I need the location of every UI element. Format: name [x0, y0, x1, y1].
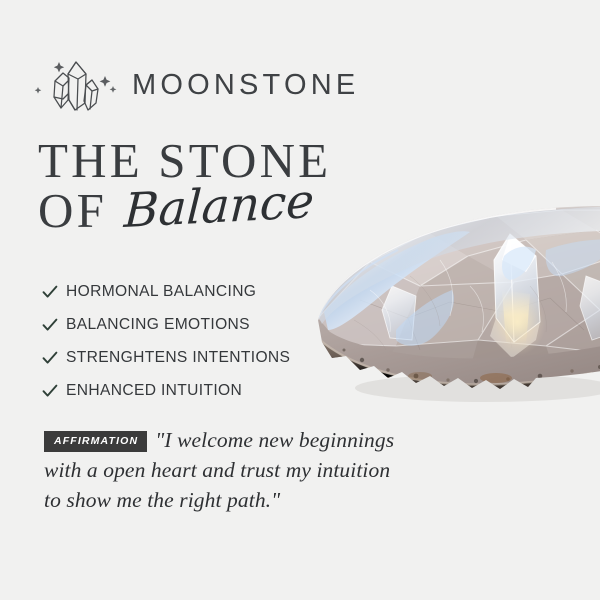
list-item-label: BALANCING EMOTIONS: [66, 316, 250, 334]
moonstone-infographic-card: MOONSTONE THE STONE OF Balance HORMONAL …: [0, 0, 600, 600]
list-item-label: ENHANCED INTUITION: [66, 382, 242, 400]
affirmation-text: AFFIRMATION"I welcome new beginnings wit…: [44, 425, 464, 515]
affirmation-line-1: "I welcome new beginnings: [155, 428, 394, 452]
check-icon: [42, 351, 66, 365]
list-item-label: HORMONAL BALANCING: [66, 283, 256, 301]
list-item: ENHANCED INTUITION: [42, 374, 362, 407]
list-item: STRENGHTENS INTENTIONS: [42, 341, 362, 374]
headline-script-word: Balance: [123, 180, 315, 234]
check-icon: [42, 384, 66, 398]
brand-lockup: MOONSTONE: [30, 52, 359, 118]
list-item: HORMONAL BALANCING: [42, 275, 362, 308]
affirmation-block: AFFIRMATION"I welcome new beginnings wit…: [44, 425, 464, 515]
list-item-label: STRENGHTENS INTENTIONS: [66, 349, 290, 367]
page-title: THE STONE OF Balance: [38, 136, 508, 236]
affirmation-line-3: to show me the right path.": [44, 485, 464, 515]
check-icon: [42, 285, 66, 299]
affirmation-line-2: with a open heart and trust my intuition: [44, 455, 464, 485]
brand-name: MOONSTONE: [132, 71, 359, 100]
list-item: BALANCING EMOTIONS: [42, 308, 362, 341]
crystal-cluster-icon: [30, 53, 126, 117]
benefits-list: HORMONAL BALANCING BALANCING EMOTIONS ST…: [42, 275, 362, 407]
headline-of: OF: [38, 186, 107, 236]
headline-line-2: OF Balance: [38, 186, 508, 236]
affirmation-badge: AFFIRMATION: [44, 431, 147, 452]
check-icon: [42, 318, 66, 332]
